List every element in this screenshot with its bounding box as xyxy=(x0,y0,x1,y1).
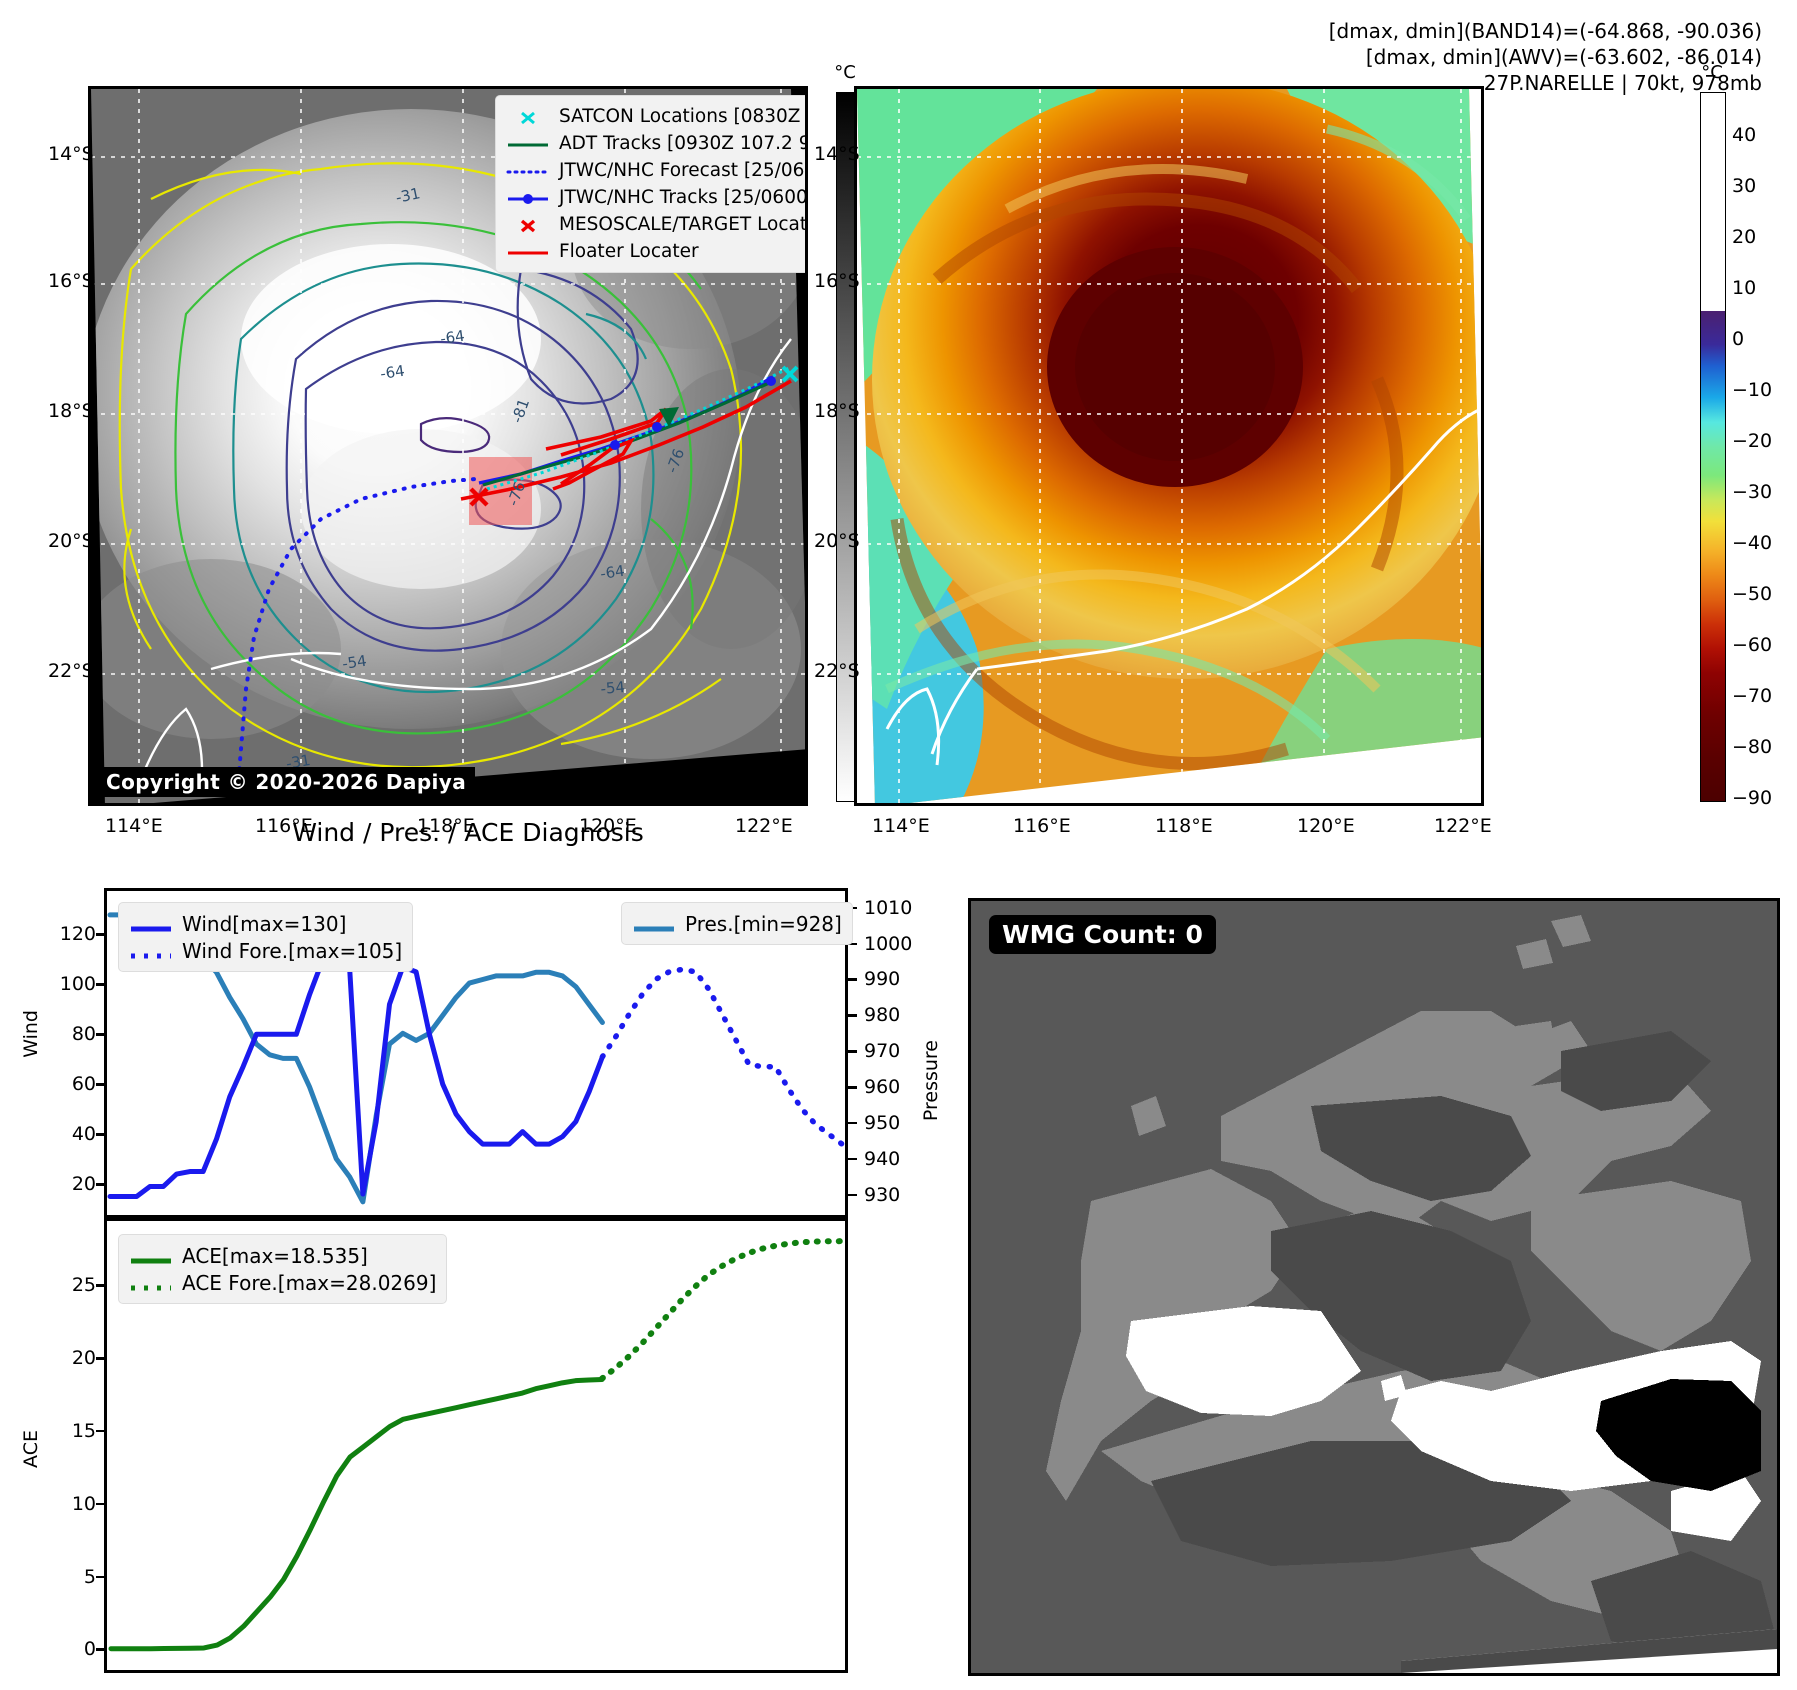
band14-target-area-map[interactable]: -31 -31 -64 -54 -54 -64 -81 -76 -76 -64 … xyxy=(88,86,808,806)
legend-item-pressure: Pres.[min=928] xyxy=(632,910,842,937)
legend-label-mesoscale: MESOSCALE/TARGET Location xyxy=(559,214,808,235)
pressure-line-icon xyxy=(632,917,676,931)
legend-item-jtwc-tracks: JTWC/NHC Tracks [25/0600Z] xyxy=(506,184,808,211)
map-legend: SATCON Locations [0830Z 79 962] ADT Trac… xyxy=(495,95,808,273)
legend-item-ace: ACE[max=18.535] xyxy=(129,1242,436,1269)
legend-item-satcon: SATCON Locations [0830Z 79 962] xyxy=(506,103,808,130)
awv-bd-enhanced-map[interactable] xyxy=(854,86,1484,806)
ace-ytick-mark-4 xyxy=(96,1576,105,1579)
legend-label-satcon: SATCON Locations [0830Z 79 962] xyxy=(559,106,808,127)
ace-ytick-mark-3 xyxy=(96,1503,105,1506)
legend-item-wind-forecast: Wind Fore.[max=105] xyxy=(129,937,402,964)
legend-label-ace: ACE[max=18.535] xyxy=(182,1244,368,1268)
ace-forecast-line xyxy=(602,1241,841,1378)
tr-lon-tick-2: 118°E xyxy=(1155,815,1213,837)
legend-label-floater: Floater Locater xyxy=(559,241,699,262)
pressure-ytick-0: 1010 xyxy=(864,897,912,919)
ace-ytick-mark-0 xyxy=(96,1284,105,1287)
diagnosis-title: Wind / Pres. / ACE Diagnosis xyxy=(88,818,848,847)
tr-colorbar xyxy=(1700,92,1726,802)
ace-line xyxy=(111,1379,602,1648)
legend-item-floater: Floater Locater xyxy=(506,238,808,265)
ace-ytick-4: 5 xyxy=(52,1566,96,1588)
adt-line-icon xyxy=(506,137,550,151)
wind-legend: Wind[max=130] Wind Fore.[max=105] xyxy=(118,902,413,972)
pressure-ytick-7: 940 xyxy=(864,1148,900,1170)
wind-ytick-mark-0 xyxy=(96,933,105,936)
svg-text:-64: -64 xyxy=(599,562,626,583)
tr-lon-tick-3: 120°E xyxy=(1297,815,1355,837)
wmg-cluster-image xyxy=(971,901,1777,1673)
dmax-dmin-band14: [dmax, dmin](BAND14)=(-64.868, -90.036) xyxy=(1329,18,1762,44)
tr-lat-tick-1: 16°S xyxy=(814,270,860,292)
wind-ytick-mark-3 xyxy=(96,1083,105,1086)
floater-line-icon xyxy=(506,245,550,259)
wind-ytick-2: 80 xyxy=(52,1023,96,1045)
pressure-ytick-2: 990 xyxy=(864,968,900,990)
legend-label-adt: ADT Tracks [0930Z 107.2 947.9] xyxy=(559,133,808,154)
pressure-ytick-mark-4 xyxy=(848,1050,857,1053)
copyright-badge: Copyright © 2020-2026 Dapiya xyxy=(97,767,475,797)
svg-text:-64: -64 xyxy=(439,327,466,348)
pressure-ytick-4: 970 xyxy=(864,1040,900,1062)
ace-ytick-3: 10 xyxy=(52,1493,96,1515)
pressure-ytick-mark-7 xyxy=(848,1158,857,1161)
wmg-count-badge: WMG Count: 0 xyxy=(989,915,1216,954)
wind-forecast-dotted-icon xyxy=(129,944,173,958)
tl-lat-tick-4: 22°S xyxy=(48,660,94,682)
ace-forecast-dotted-icon xyxy=(129,1276,173,1290)
legend-label-wind-forecast: Wind Fore.[max=105] xyxy=(182,939,402,963)
pressure-ytick-5: 960 xyxy=(864,1076,900,1098)
wind-ytick-0: 120 xyxy=(52,923,96,945)
ace-ytick-0: 25 xyxy=(52,1274,96,1296)
svg-text:-54: -54 xyxy=(341,652,368,673)
wind-ytick-mark-4 xyxy=(96,1133,105,1136)
ace-axis-label: ACE xyxy=(20,1430,42,1468)
pressure-legend: Pres.[min=928] xyxy=(621,902,853,945)
tr-lat-tick-4: 22°S xyxy=(814,660,860,682)
satcon-x-icon xyxy=(506,110,550,124)
wind-line-icon xyxy=(129,917,173,931)
wind-ytick-4: 40 xyxy=(52,1123,96,1145)
legend-item-wind: Wind[max=130] xyxy=(129,910,402,937)
legend-label-jtwc-forecast: JTWC/NHC Forecast [25/0600Z] xyxy=(559,160,808,181)
svg-text:-64: -64 xyxy=(379,362,406,383)
tl-lat-tick-1: 16°S xyxy=(48,270,94,292)
legend-item-ace-forecast: ACE Fore.[max=28.0269] xyxy=(129,1269,436,1296)
tr-lat-tick-0: 14°S xyxy=(814,143,860,165)
wind-ytick-mark-2 xyxy=(96,1033,105,1036)
wind-ytick-5: 20 xyxy=(52,1173,96,1195)
wind-ytick-mark-1 xyxy=(96,983,105,986)
wind-ytick-1: 100 xyxy=(52,973,96,995)
tr-lon-tick-1: 116°E xyxy=(1013,815,1071,837)
tl-colorbar-unit: °C xyxy=(825,62,865,83)
tr-lon-tick-0: 114°E xyxy=(872,815,930,837)
legend-label-wind: Wind[max=130] xyxy=(182,912,346,936)
tl-lat-tick-3: 20°S xyxy=(48,530,94,552)
ace-ytick-mark-1 xyxy=(96,1357,105,1360)
pressure-ytick-8: 930 xyxy=(864,1184,900,1206)
pressure-ytick-mark-2 xyxy=(848,978,857,981)
wind-axis-label: Wind xyxy=(20,1010,42,1058)
mesoscale-x-icon xyxy=(506,218,550,232)
tr-colorbar-unit: °C xyxy=(1692,62,1732,83)
pressure-ytick-1: 1000 xyxy=(864,933,912,955)
bd-enhanced-image xyxy=(857,89,1484,806)
ace-ytick-mark-2 xyxy=(96,1430,105,1433)
pressure-ytick-mark-6 xyxy=(848,1122,857,1125)
ace-legend: ACE[max=18.535] ACE Fore.[max=28.0269] xyxy=(118,1234,447,1304)
pressure-axis-label: Pressure xyxy=(920,1040,942,1121)
tr-lon-tick-4: 122°E xyxy=(1434,815,1492,837)
pressure-ytick-6: 950 xyxy=(864,1112,900,1134)
pressure-ytick-mark-8 xyxy=(848,1194,857,1197)
svg-text:-54: -54 xyxy=(600,678,626,698)
legend-label-pressure: Pres.[min=928] xyxy=(685,912,842,936)
legend-item-mesoscale: MESOSCALE/TARGET Location xyxy=(506,211,808,238)
legend-item-adt: ADT Tracks [0930Z 107.2 947.9] xyxy=(506,130,808,157)
ace-ytick-1: 20 xyxy=(52,1347,96,1369)
tl-lat-tick-2: 18°S xyxy=(48,400,94,422)
ace-ytick-mark-5 xyxy=(96,1648,105,1651)
wind-forecast-line xyxy=(602,969,842,1144)
pressure-ytick-mark-5 xyxy=(848,1086,857,1089)
legend-label-jtwc-tracks: JTWC/NHC Tracks [25/0600Z] xyxy=(559,187,808,208)
tr-lat-tick-3: 20°S xyxy=(814,530,860,552)
wmg-panel[interactable]: WMG Count: 0 xyxy=(968,898,1780,1676)
ace-ytick-5: 0 xyxy=(52,1638,96,1660)
tl-lat-tick-0: 14°S xyxy=(48,143,94,165)
ace-ytick-2: 15 xyxy=(52,1420,96,1442)
wind-ytick-3: 60 xyxy=(52,1073,96,1095)
jtwc-forecast-dotted-icon xyxy=(506,164,550,178)
legend-item-jtwc-forecast: JTWC/NHC Forecast [25/0600Z] xyxy=(506,157,808,184)
ace-line-icon xyxy=(129,1249,173,1263)
scene-info-block: [dmax, dmin](BAND14)=(-64.868, -90.036) … xyxy=(1329,18,1762,96)
pressure-ytick-3: 980 xyxy=(864,1004,900,1026)
tr-lat-tick-2: 18°S xyxy=(814,400,860,422)
wind-ytick-mark-5 xyxy=(96,1183,105,1186)
pressure-ytick-mark-3 xyxy=(848,1014,857,1017)
legend-label-ace-forecast: ACE Fore.[max=28.0269] xyxy=(182,1271,436,1295)
jtwc-track-marker-icon xyxy=(506,191,550,205)
